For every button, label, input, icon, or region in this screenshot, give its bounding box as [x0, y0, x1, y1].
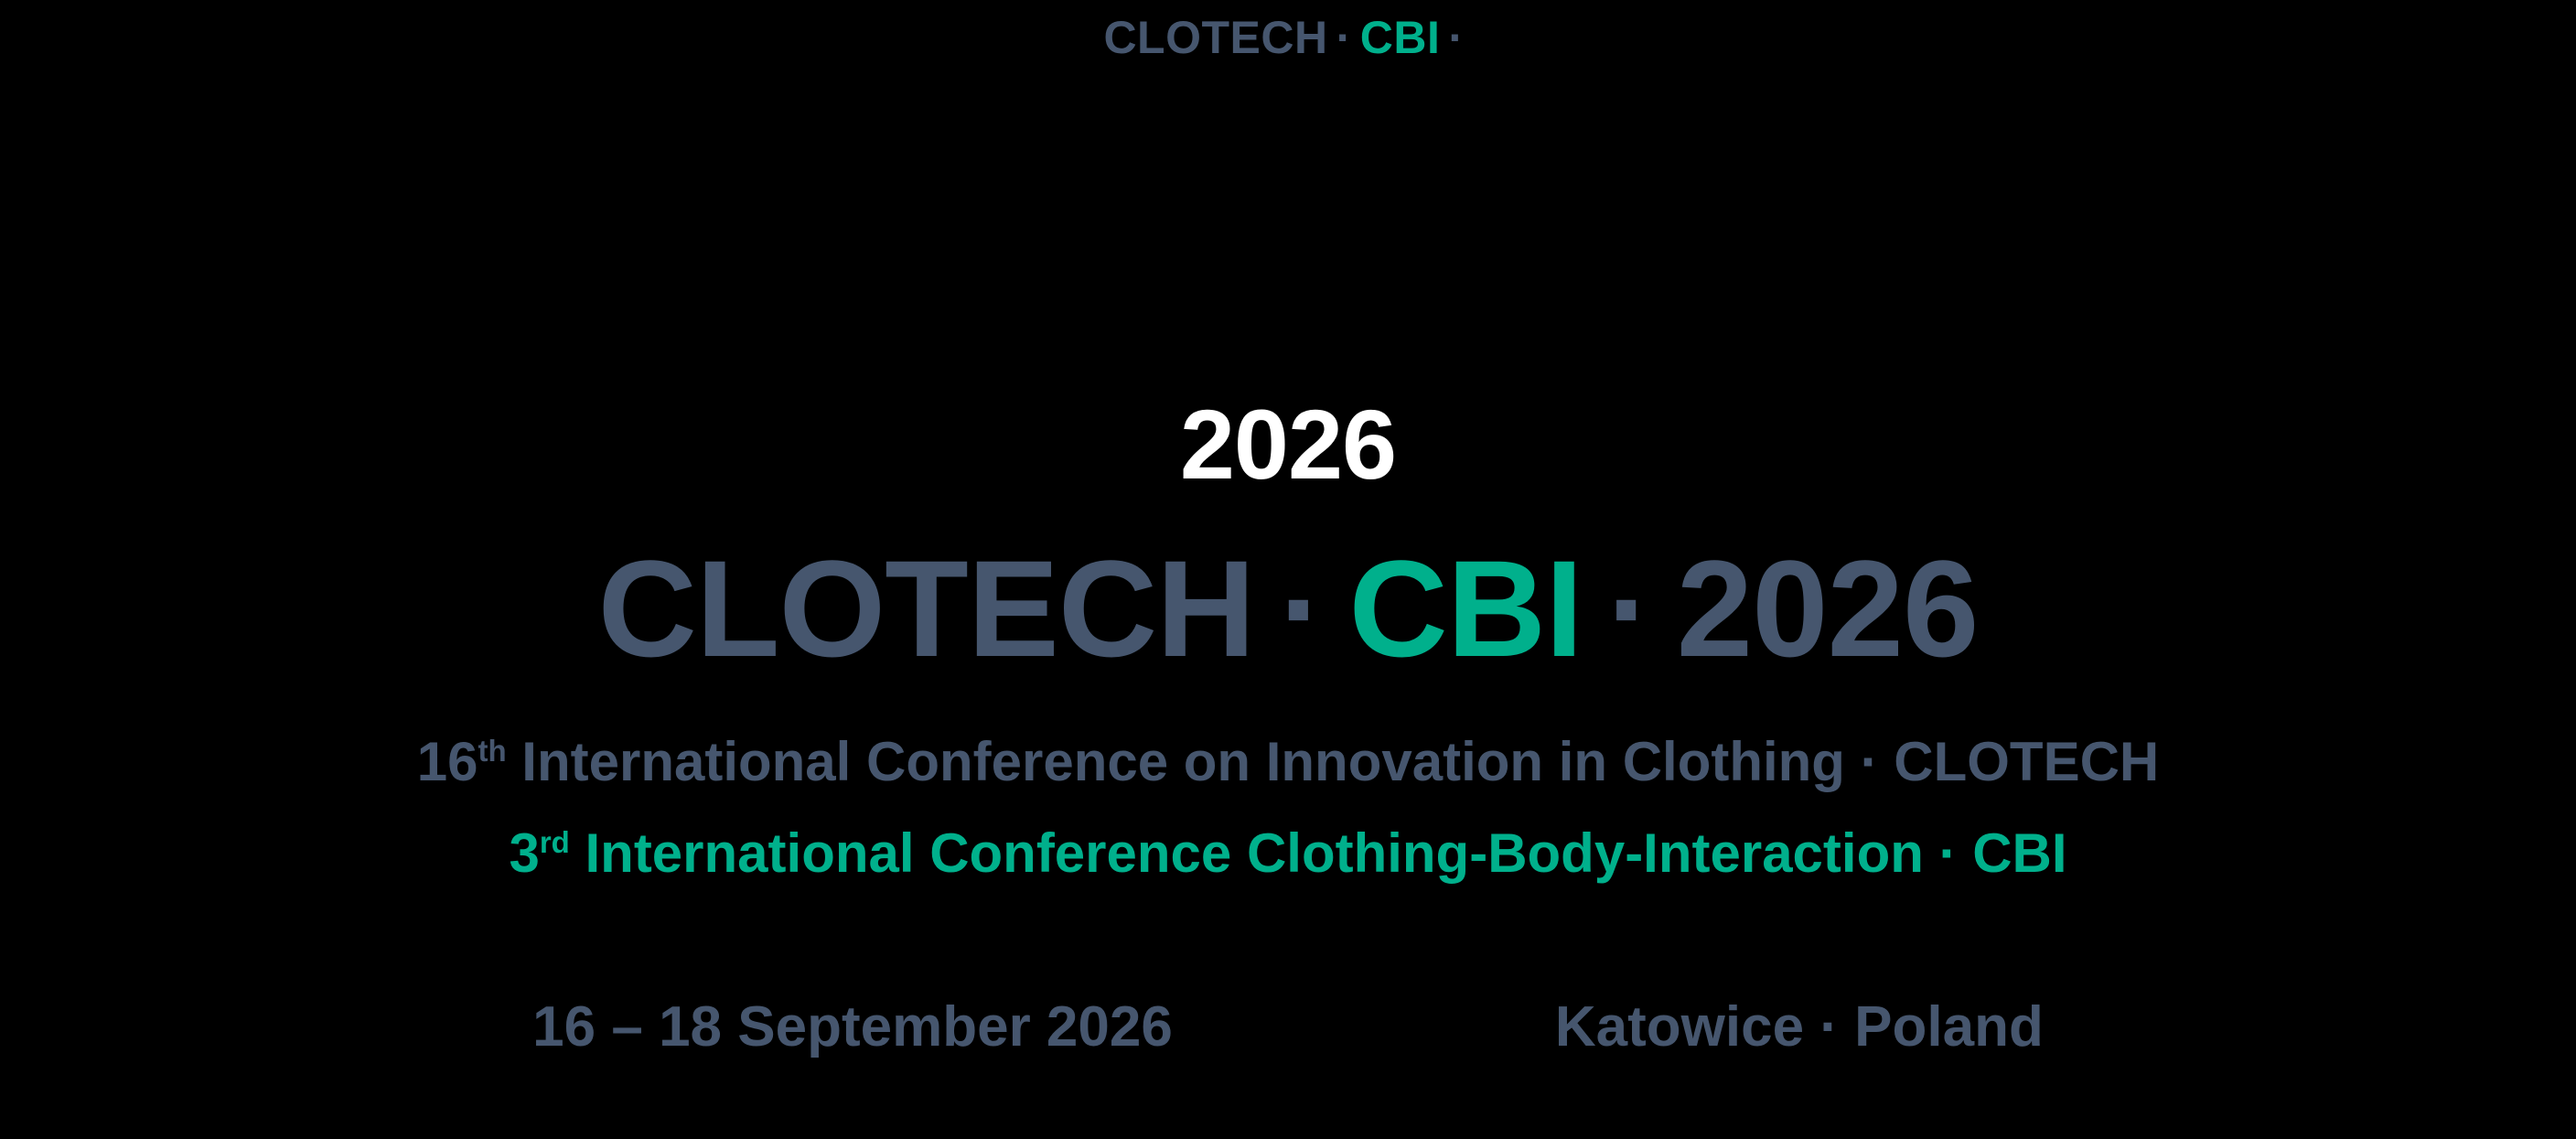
subtitle-cbi-ordinal-number: 3 — [509, 822, 539, 884]
title-separator-1-icon: · — [1255, 540, 1349, 677]
title-separator-2-icon: · — [1583, 540, 1677, 677]
title-part-clotech: CLOTECH — [598, 532, 1255, 685]
hero-year-badge: 2026 — [0, 395, 2576, 494]
subtitle-clotech-text: International Conference on Innovation i… — [507, 731, 2160, 792]
title-part-cbi: CBI — [1348, 532, 1582, 685]
subtitle-cbi-text: International Conference Clothing-Body-I… — [570, 822, 2067, 884]
hero-subtitle-clotech: 16th International Conference on Innovat… — [0, 732, 2576, 792]
hero-section: 2026 CLOTECH·CBI·2026 16th International… — [0, 0, 2576, 1139]
title-part-year: 2026 — [1677, 532, 1979, 685]
conference-dates: 16 – 18 September 2026 — [532, 999, 1173, 1056]
subtitle-cbi-ordinal-suffix: rd — [540, 825, 570, 859]
hero-main-title: CLOTECH·CBI·2026 — [0, 540, 2576, 677]
subtitle-clotech-ordinal-suffix: th — [478, 734, 506, 768]
subtitle-clotech-ordinal-number: 16 — [417, 731, 478, 792]
conference-location: Katowice · Poland — [1555, 999, 2044, 1056]
hero-meta-row: 16 – 18 September 2026 Katowice · Poland — [0, 991, 2576, 1064]
hero-subtitle-cbi: 3rd International Conference Clothing-Bo… — [0, 823, 2576, 884]
